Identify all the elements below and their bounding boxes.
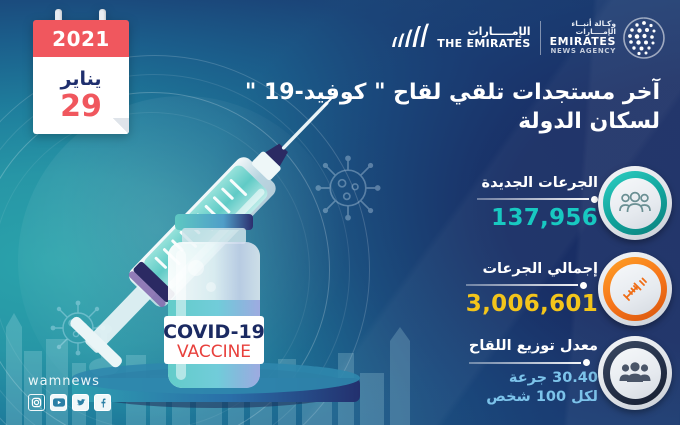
calendar-day: 29 — [60, 92, 102, 122]
badge-inner — [610, 178, 661, 229]
stat-total-doses: إجمالي الجرعات 3,006,601 — [456, 252, 672, 326]
calendar-page-fold — [113, 118, 129, 134]
instagram-icon[interactable] — [28, 394, 45, 411]
emirates-english-name: THE EMIRATES — [437, 38, 530, 50]
stat-badge-new-doses — [598, 166, 672, 240]
connector-line — [466, 284, 578, 286]
stat-connector — [466, 282, 598, 289]
social-links[interactable] — [28, 394, 111, 411]
brand-logos: الإمـــــارات THE EMIRATES وكـالة أنبــا… — [390, 16, 666, 60]
wam-wordmark: وكـالة أنبــاء الإمــــارات EMIRATES NEW… — [550, 20, 616, 56]
badge-ring-teal — [603, 171, 667, 235]
badge-inner — [610, 348, 661, 399]
stat-value: 30.40 جرعة — [469, 369, 598, 388]
wam-globe-icon — [622, 16, 666, 60]
vial-label-line1: COVID-19 — [163, 321, 265, 343]
infographic-canvas: COVID-19 VACCINE 2021 يناير 29 — [0, 0, 680, 425]
badge-ring-dark — [603, 341, 667, 405]
date-calendar: 2021 يناير 29 — [33, 16, 129, 134]
stat-badge-distribution-rate — [598, 336, 672, 410]
headline-line-2: لسكان الدولة — [210, 107, 660, 136]
twitter-icon[interactable] — [72, 394, 89, 411]
stat-connector — [469, 359, 598, 366]
connector-line — [469, 362, 581, 364]
logo-divider — [540, 21, 541, 55]
people-group-outline-icon — [619, 191, 651, 215]
footer-brand: wamnews — [28, 374, 111, 411]
stat-badge-total-doses — [598, 252, 672, 326]
stat-value: 3,006,601 — [466, 292, 598, 316]
youtube-icon[interactable] — [50, 394, 67, 411]
vial-label-line2: VACCINE — [177, 342, 251, 362]
stat-connector — [477, 196, 598, 203]
connector-dot — [583, 359, 590, 366]
stat-new-doses: الجرعات الجديدة 137,956 — [467, 166, 672, 240]
stat-text-new-doses: الجرعات الجديدة 137,956 — [467, 176, 598, 230]
badge-inner — [610, 264, 661, 315]
stat-label: إجمالي الجرعات — [466, 262, 598, 278]
stat-value-secondary: لكل 100 شخص — [469, 388, 598, 407]
connector-line — [477, 198, 589, 200]
stat-value: 137,956 — [477, 206, 598, 230]
syringe-icon — [620, 274, 650, 304]
calendar-year: 2021 — [52, 27, 110, 51]
people-group-solid-icon — [619, 361, 651, 385]
stat-distribution-rate: معدل توزيع اللقاح 30.40 جرعة لكل 100 شخص — [459, 336, 672, 410]
page-title: آخر مستجدات تلقي لقاح " كوفيد-19 " لسكان… — [210, 78, 660, 137]
stat-label: الجرعات الجديدة — [477, 176, 598, 192]
headline-line-1: آخر مستجدات تلقي لقاح " كوفيد-19 " — [210, 78, 660, 107]
calendar-header: 2021 — [33, 20, 129, 57]
facebook-icon[interactable] — [94, 394, 111, 411]
wam-logo: وكـالة أنبــاء الإمــــارات EMIRATES NEW… — [550, 16, 666, 60]
connector-dot — [580, 282, 587, 289]
stat-text-distribution-rate: معدل توزيع اللقاح 30.40 جرعة لكل 100 شخص — [459, 339, 598, 406]
footer-handle: wamnews — [28, 374, 111, 389]
connector-dot — [591, 196, 598, 203]
the-emirates-logo: الإمـــــارات THE EMIRATES — [390, 23, 530, 53]
stat-label: معدل توزيع اللقاح — [469, 339, 598, 355]
badge-ring-orange — [603, 257, 667, 321]
stat-text-total-doses: إجمالي الجرعات 3,006,601 — [456, 262, 598, 316]
the-emirates-wordmark: الإمـــــارات THE EMIRATES — [437, 26, 530, 49]
calendar-body: يناير 29 — [33, 57, 129, 134]
wam-english-line2: NEWS AGENCY — [550, 48, 616, 56]
calendar-month: يناير — [61, 70, 102, 89]
emirates-fingerprint-icon — [390, 23, 430, 53]
